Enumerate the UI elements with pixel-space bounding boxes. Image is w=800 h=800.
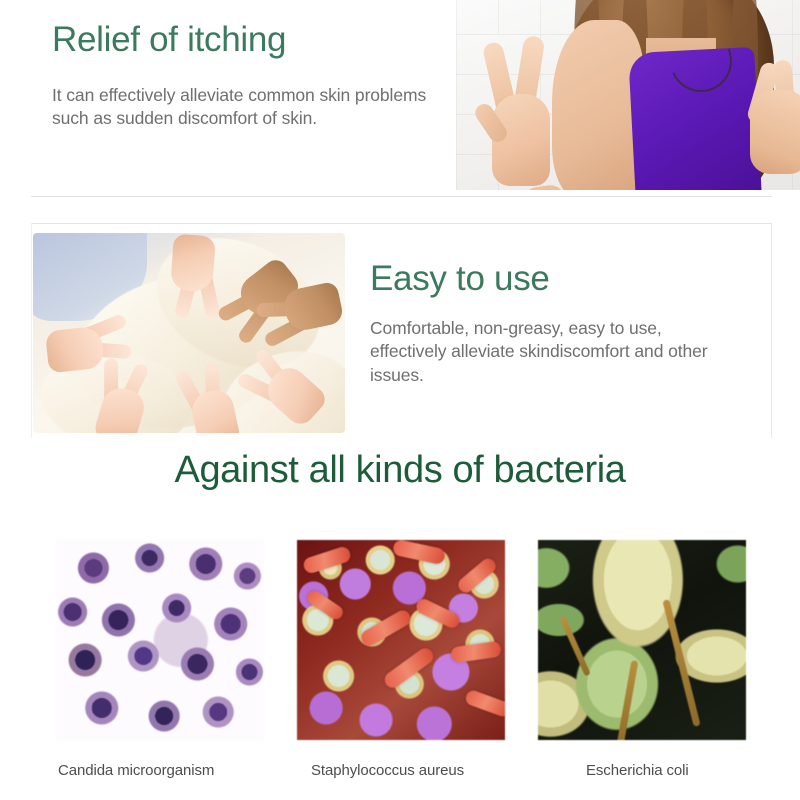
left-hand-peace-sign	[482, 36, 560, 186]
bacteria-caption: Escherichia coli	[586, 762, 746, 779]
bacterial-rod	[382, 645, 437, 691]
bacteria-caption: Staphylococcus aureus	[311, 762, 505, 779]
stalk	[559, 616, 591, 677]
product-detail-page: Relief of itching It can effectively all…	[0, 0, 800, 800]
palm	[750, 90, 800, 174]
bacteria-item: Candida microorganism	[56, 540, 264, 779]
bacteria-heading: Against all kinds of bacteria	[0, 449, 800, 492]
section-against-bacteria: Against all kinds of bacteria Candida mi…	[0, 440, 800, 800]
section-body-easy-to-use: Comfortable, non-greasy, easy to use, ef…	[370, 317, 740, 387]
palm	[170, 234, 216, 293]
bacteria-item: Staphylococcus aureus	[297, 540, 505, 779]
divider-line-top	[31, 196, 772, 197]
woman-peace-sign-photo	[456, 0, 800, 190]
bacterial-rod	[302, 545, 353, 575]
bacterial-rod	[464, 689, 505, 719]
section-easy-to-use: Easy to use Comfortable, non-greasy, eas…	[0, 223, 800, 439]
right-hand-peace-sign	[734, 60, 800, 180]
bacterial-rod	[359, 608, 414, 649]
section-relief-of-itching: Relief of itching It can effectively all…	[0, 0, 800, 196]
bacterial-rod	[450, 641, 502, 664]
bacterial-rod	[455, 556, 498, 596]
palm	[92, 383, 148, 433]
bacteria-item: Escherichia coli	[538, 540, 746, 779]
palm	[45, 326, 105, 374]
stalk	[662, 599, 700, 727]
section-title-easy-to-use: Easy to use	[370, 261, 550, 298]
bacterial-rod	[414, 597, 462, 631]
section-body-relief: It can effectively alleviate common skin…	[52, 84, 432, 131]
bacterial-rod	[392, 540, 446, 565]
section-title-relief: Relief of itching	[52, 22, 286, 59]
candida-micrograph	[56, 540, 264, 740]
staphylococcus-micrograph	[297, 540, 505, 740]
stalk	[617, 660, 639, 740]
hands-peace-signs-photo	[33, 233, 345, 433]
bacterial-rod	[305, 588, 346, 622]
escherichia-coli-micrograph	[538, 540, 746, 740]
bacteria-caption: Candida microorganism	[58, 762, 264, 779]
